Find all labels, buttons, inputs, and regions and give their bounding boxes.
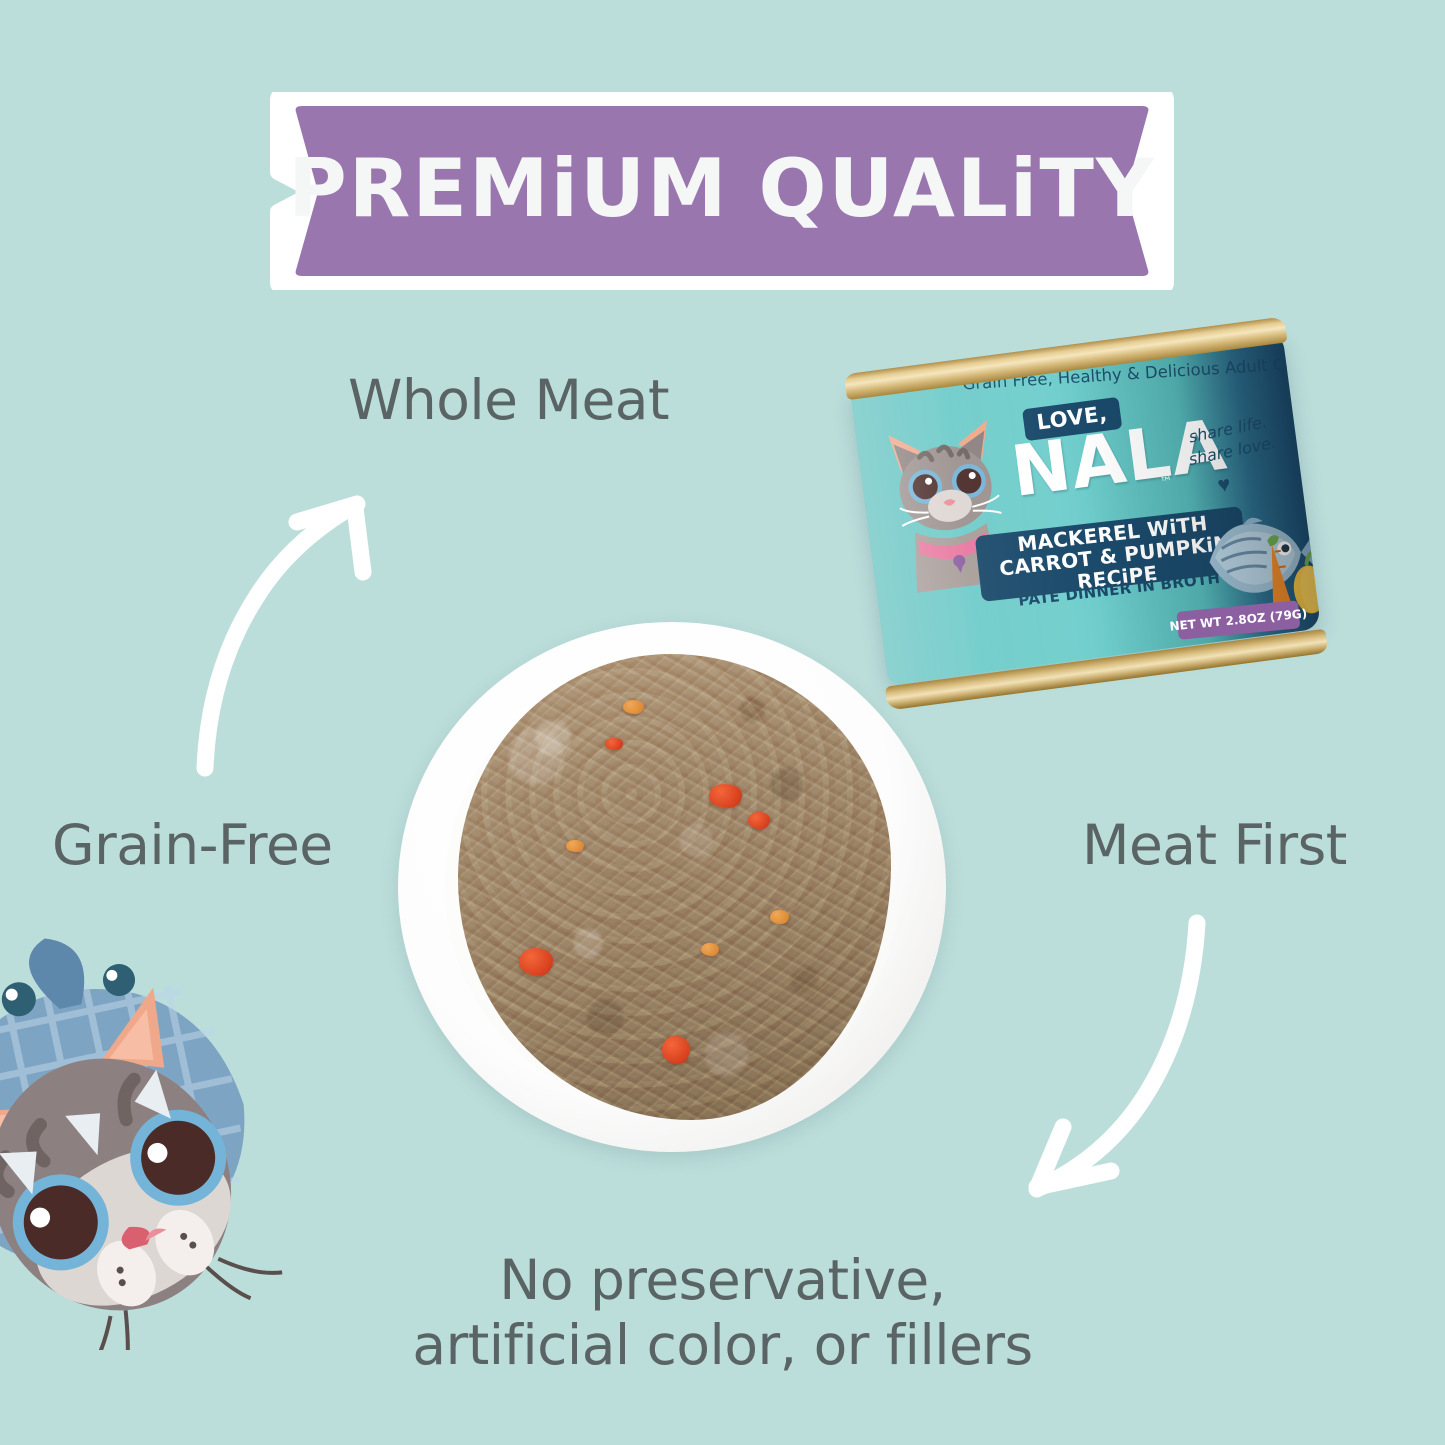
veg-piece [770,910,789,924]
feature-label-meat-first: Meat First [1082,813,1347,877]
can-trademark-symbol: ™ [1159,474,1174,491]
banner-label: PREMiUM QUALiTY [268,92,1176,290]
veg-piece [605,738,622,750]
arrow-up-right-icon [185,480,415,780]
premium-quality-banner: PREMiUM QUALiTY [268,92,1176,290]
veg-piece [662,1036,690,1064]
veg-piece [701,943,719,956]
arrow-down-left-icon [975,905,1220,1205]
veg-piece [623,700,645,714]
veg-piece [709,784,741,807]
product-feature-graphic: PREMiUM QUALiTY Whole Meat Grain-Free Me… [0,0,1445,1445]
plate-of-cat-food [398,622,946,1152]
feature-label-whole-meat: Whole Meat [348,368,669,432]
pate-food-mound [458,654,891,1120]
veg-piece [566,840,583,852]
veg-piece [519,948,554,976]
feature-label-grain-free: Grain-Free [52,813,333,877]
veg-piece [748,812,770,829]
product-can: Grain Free, Healthy & Delicious Adult Ca… [835,311,1336,713]
nala-cat-with-fish-mascot [0,930,322,1350]
